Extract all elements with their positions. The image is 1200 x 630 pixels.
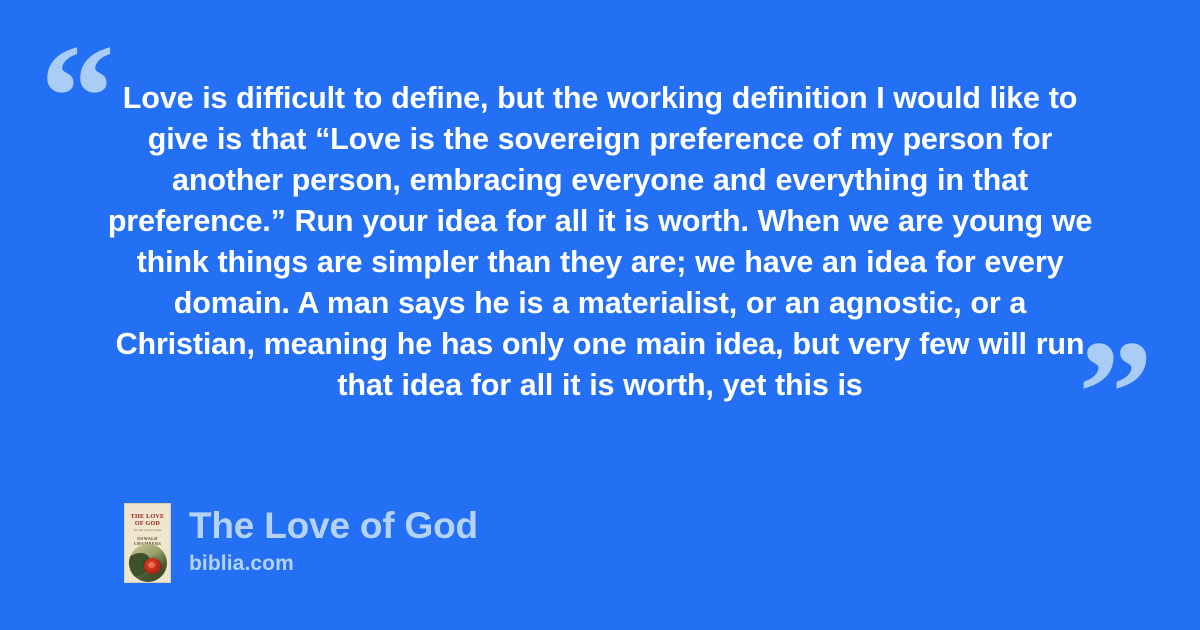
site-name[interactable]: biblia.com [189, 551, 478, 577]
book-cover-title: THE LOVE OF GOD [125, 513, 170, 527]
book-cover-title-line-1: THE LOVE [131, 513, 165, 520]
close-quote-icon: ” [1078, 318, 1153, 468]
book-title[interactable]: The Love of God [189, 504, 478, 547]
quote-card: “ Love is difficult to define, but the w… [0, 0, 1200, 630]
book-cover-title-line-2: OF GOD [135, 520, 160, 527]
book-cover-subtitle: and other selected writings [125, 529, 170, 532]
book-cover-artwork [129, 544, 167, 582]
attribution-text: The Love of God biblia.com [189, 503, 478, 577]
book-cover-thumbnail[interactable]: THE LOVE OF GOD and other selected writi… [124, 503, 171, 583]
quote-text: Love is difficult to define, but the wor… [100, 78, 1100, 406]
quote-block: Love is difficult to define, but the wor… [100, 78, 1100, 406]
attribution-footer[interactable]: THE LOVE OF GOD and other selected writi… [124, 503, 478, 583]
rose-icon [144, 558, 161, 574]
